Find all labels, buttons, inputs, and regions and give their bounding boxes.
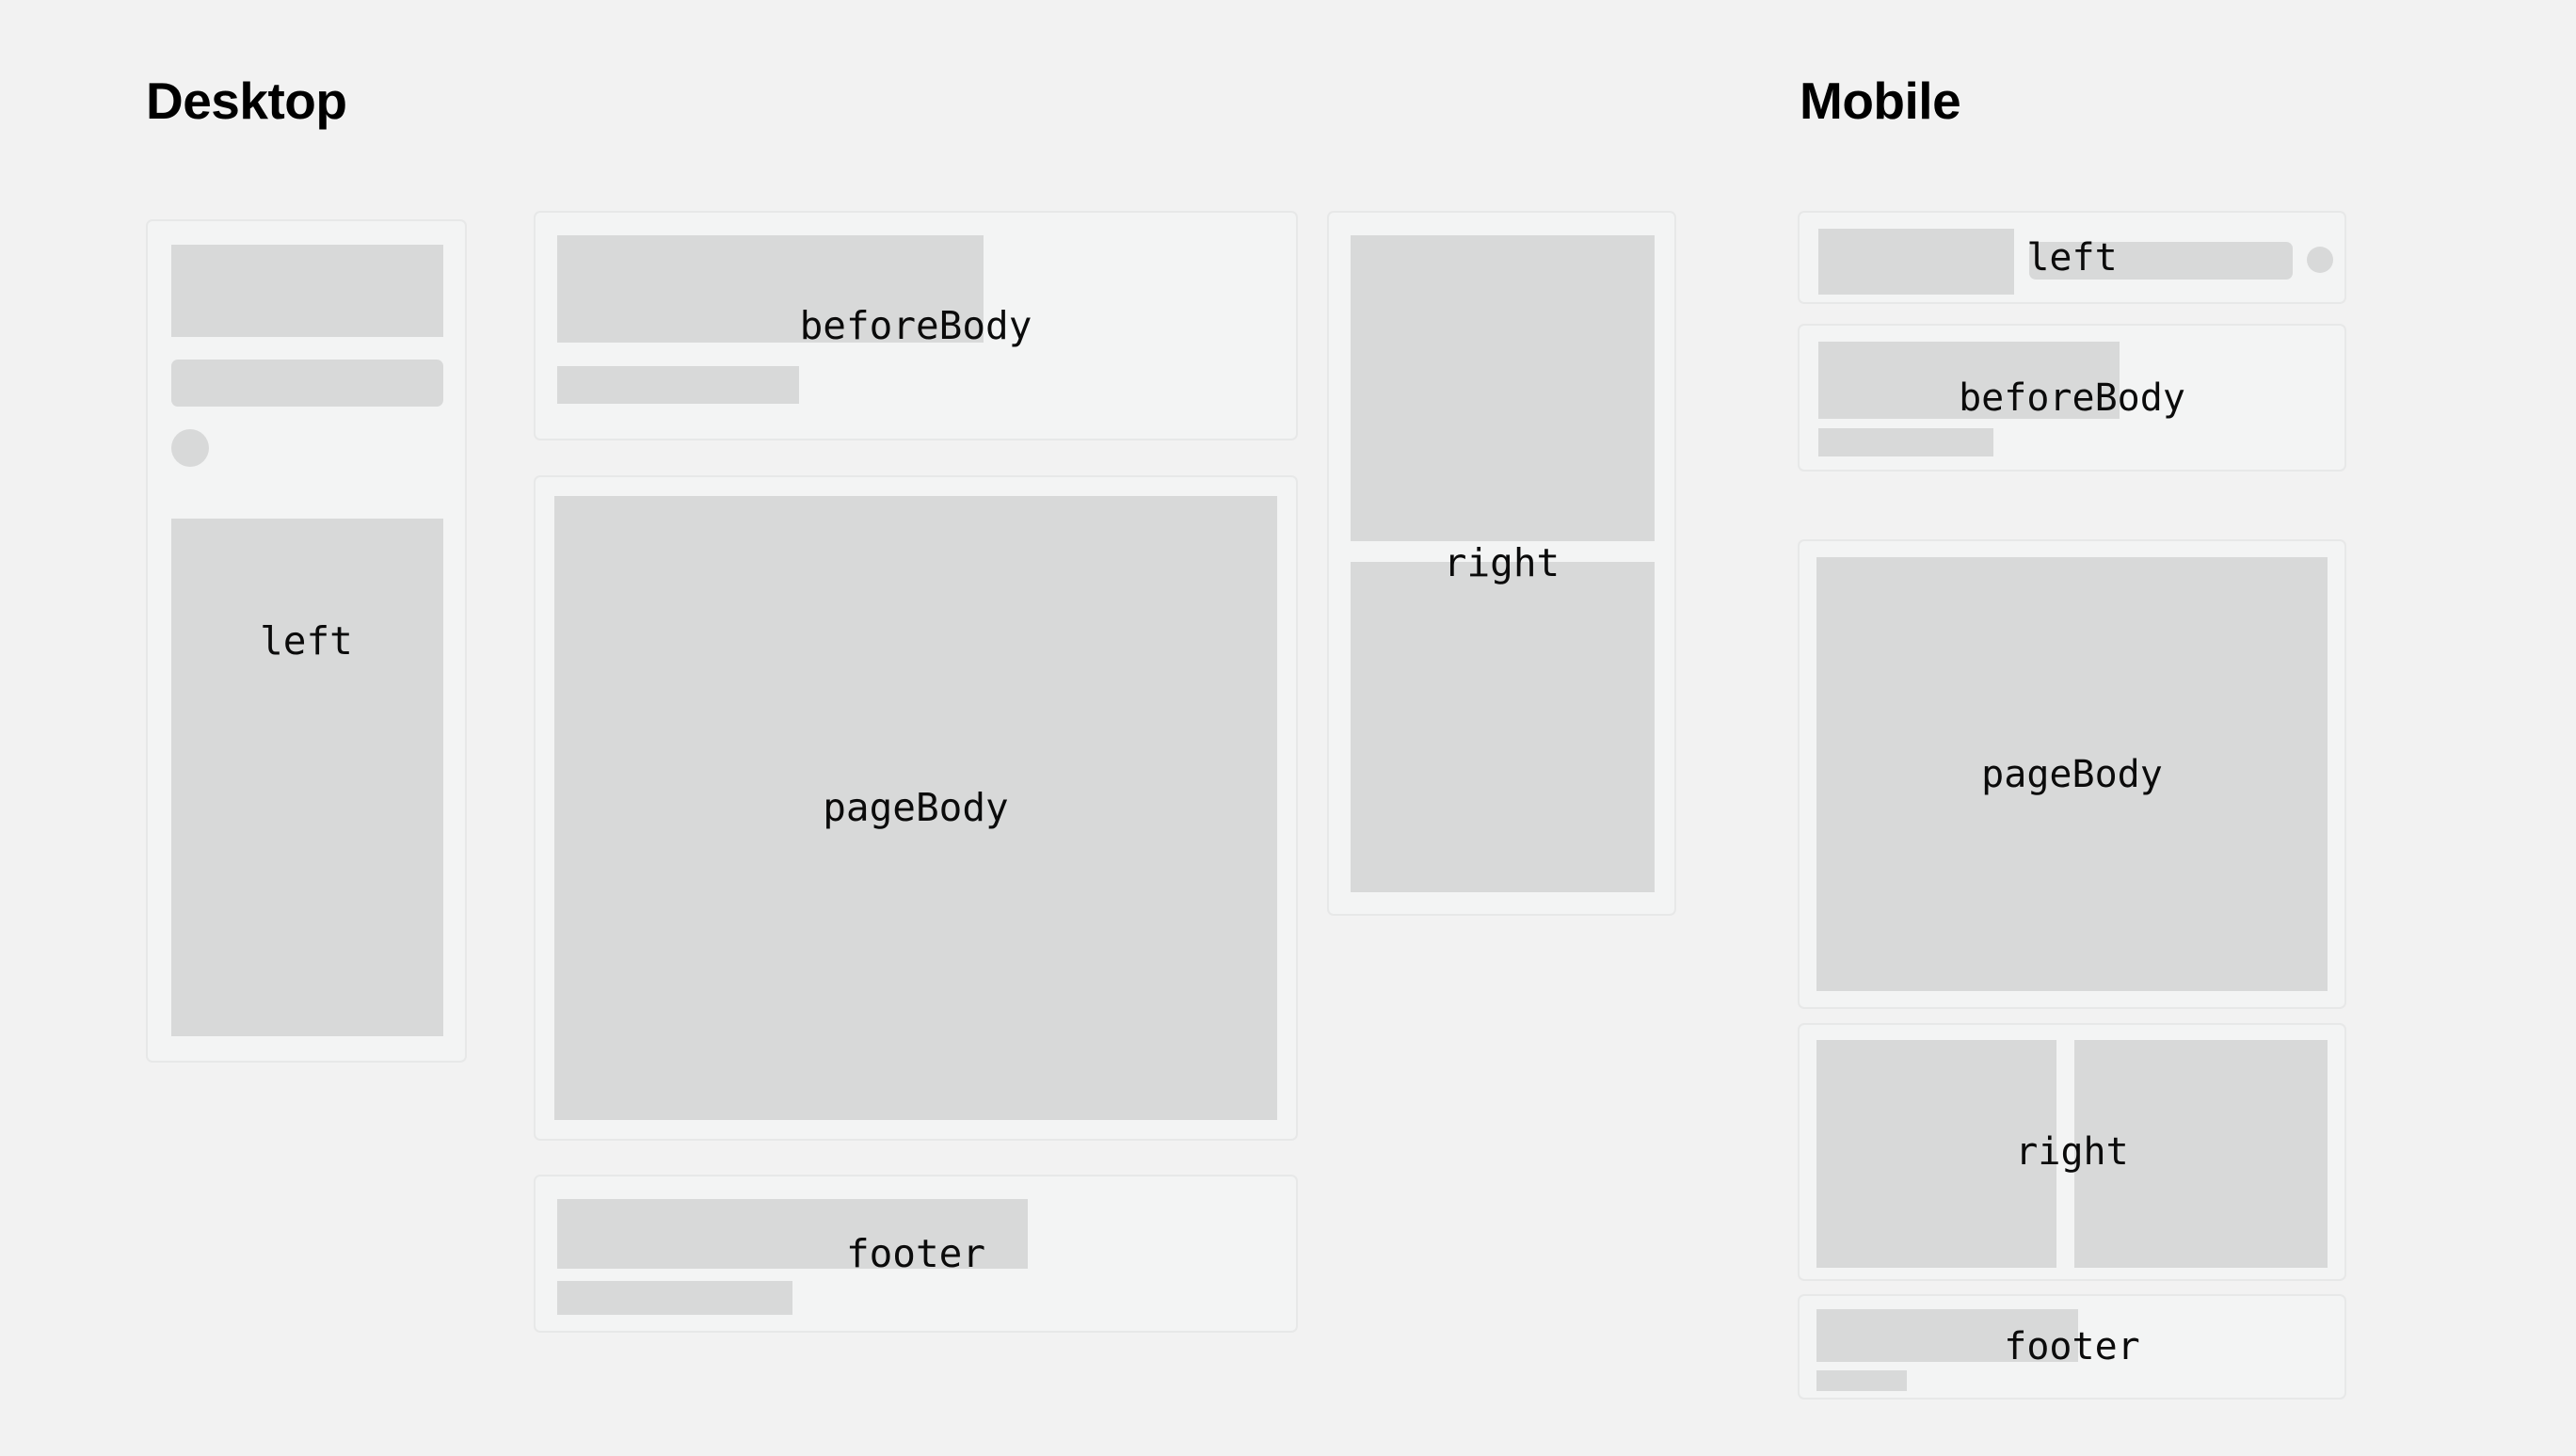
mobile-pagebody-block-rect-fill (1816, 557, 2328, 991)
mobile-left-block-dot (2307, 247, 2333, 273)
mobile-beforebody-block-rect-narrow (1818, 428, 1993, 456)
mobile-slot-footer-panel[interactable] (1798, 1294, 2346, 1400)
desktop-slot-beforebody-panel[interactable] (534, 211, 1298, 440)
layout-comparison-canvas: Desktop Mobile left beforeBody pageBody … (0, 0, 2576, 1456)
desktop-slot-footer-panel[interactable] (534, 1175, 1298, 1333)
desktop-left-block-dot (171, 429, 209, 467)
desktop-slot-pagebody-panel[interactable] (534, 475, 1298, 1141)
mobile-slot-right-panel[interactable] (1798, 1023, 2346, 1281)
desktop-left-block-rect-tall (171, 519, 443, 1036)
desktop-slot-left-panel[interactable] (146, 219, 467, 1063)
mobile-left-block-rect-large (1818, 229, 2014, 295)
column-heading-desktop: Desktop (146, 75, 347, 127)
desktop-footer-block-rect-narrow (557, 1281, 792, 1315)
mobile-footer-block-rect-narrow (1816, 1370, 1907, 1391)
column-heading-mobile: Mobile (1800, 75, 1960, 127)
mobile-slot-pagebody-panel[interactable] (1798, 539, 2346, 1009)
mobile-left-block-rect-rounded (2029, 242, 2293, 280)
desktop-pagebody-block-rect-fill (554, 496, 1277, 1120)
desktop-right-block-rect-bottom (1351, 562, 1655, 892)
desktop-beforebody-block-rect-wide (557, 235, 984, 343)
mobile-slot-beforebody-panel[interactable] (1798, 324, 2346, 472)
desktop-slot-right-panel[interactable] (1327, 211, 1676, 916)
desktop-right-block-rect-top (1351, 235, 1655, 541)
desktop-left-block-rect-large (171, 245, 443, 337)
mobile-slot-left-panel[interactable] (1798, 211, 2346, 304)
mobile-beforebody-block-rect-wide (1818, 342, 2120, 419)
desktop-beforebody-block-rect-narrow (557, 366, 799, 404)
desktop-footer-block-rect-wide (557, 1199, 1028, 1269)
desktop-left-block-rect-rounded (171, 360, 443, 407)
mobile-right-block-rect-left (1816, 1040, 2056, 1268)
mobile-right-block-rect-right (2074, 1040, 2328, 1268)
mobile-footer-block-rect-wide (1816, 1309, 2078, 1362)
